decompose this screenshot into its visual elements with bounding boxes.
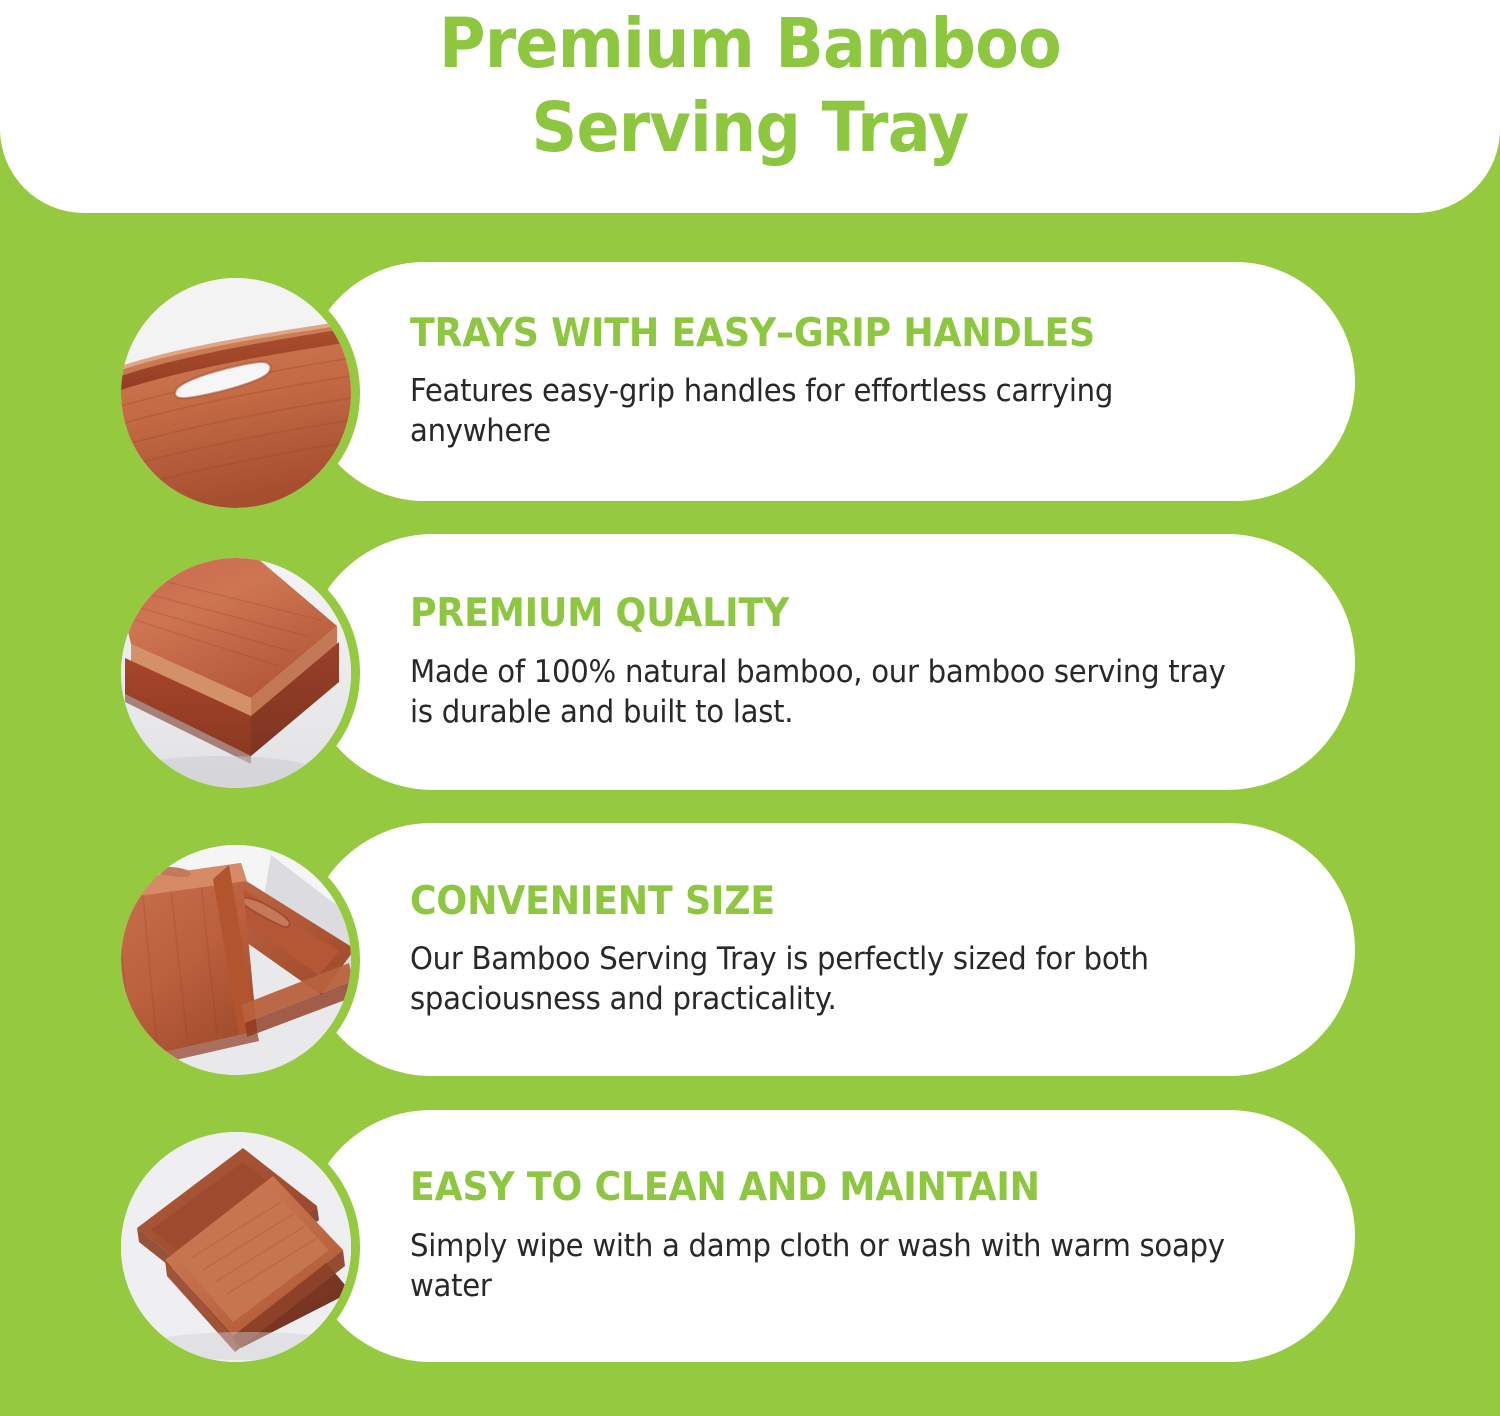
feature-card: PREMIUM QUALITY Made of 100% natural bam… — [305, 534, 1355, 790]
feature-card: TRAYS WITH EASY–GRIP HANDLES Features ea… — [305, 262, 1355, 501]
trays-angled-stack-photo — [121, 845, 351, 1075]
infographic-page: Premium Bamboo Serving Tray TRAYS WITH E… — [0, 0, 1500, 1416]
tray-corner-closeup-photo — [121, 558, 351, 788]
feature-heading: EASY TO CLEAN AND MAINTAIN — [410, 1166, 1235, 1210]
feature-body: Features easy-grip handles for effortles… — [410, 371, 1244, 452]
feature-card: EASY TO CLEAN AND MAINTAIN Simply wipe w… — [305, 1110, 1355, 1362]
feature-body: Our Bamboo Serving Tray is perfectly siz… — [410, 939, 1244, 1020]
feature-heading: TRAYS WITH EASY–GRIP HANDLES — [410, 311, 1235, 355]
three-trays-overlapping-photo — [121, 1132, 351, 1362]
feature-body: Simply wipe with a damp cloth or wash wi… — [410, 1226, 1244, 1307]
feature-body: Made of 100% natural bamboo, our bamboo … — [410, 652, 1244, 733]
header-panel: Premium Bamboo Serving Tray — [0, 0, 1500, 213]
page-title: Premium Bamboo Serving Tray — [439, 0, 1061, 170]
feature-card: CONVENIENT SIZE Our Bamboo Serving Tray … — [305, 823, 1355, 1076]
feature-heading: CONVENIENT SIZE — [410, 879, 1235, 923]
feature-heading: PREMIUM QUALITY — [410, 592, 1235, 636]
tray-handle-closeup-photo — [121, 278, 351, 508]
